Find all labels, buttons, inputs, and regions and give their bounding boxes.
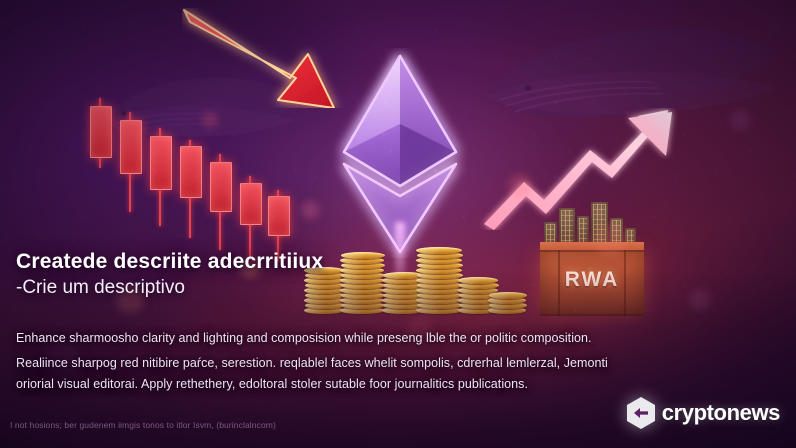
fineprint-caption: I not hosions; ber gudenem iimgis tonos …: [10, 420, 276, 430]
hexagon-key-icon: [625, 396, 657, 430]
page-subtitle: -Crie um descriptivo: [16, 277, 185, 299]
cryptonews-wordmark: cryptonews: [662, 400, 780, 426]
banner-image: RWA Createde descriite adecrritiiux -Cri…: [0, 0, 796, 448]
text-layer: Createde descriite adecrritiiux -Crie um…: [0, 0, 796, 448]
cryptonews-logo[interactable]: cryptonews: [625, 396, 780, 430]
body-line-2: Realiince sharpog red nitibire paŕce, se…: [16, 356, 608, 370]
body-line-3: oriorial visual editorai. Apply rethethe…: [16, 377, 528, 391]
page-title: Createde descriite adecrritiiux: [16, 250, 323, 274]
body-line-1: Enhance sharmoosho clarity and lighting …: [16, 331, 592, 345]
